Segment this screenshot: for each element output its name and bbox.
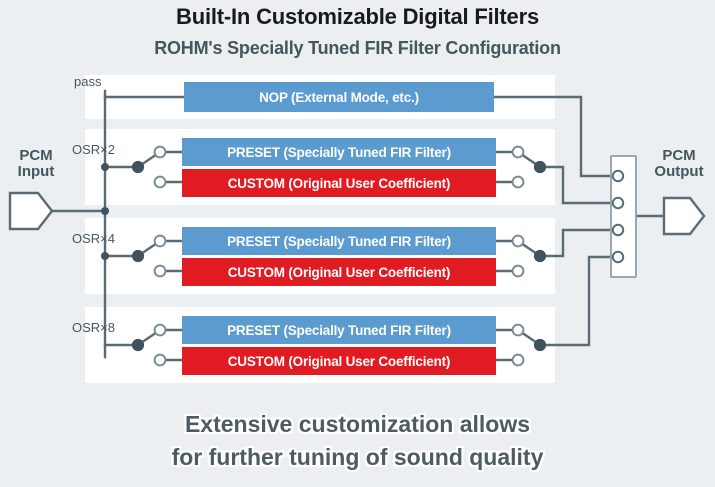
wire-pass-to-mux xyxy=(494,97,611,176)
mux-terminal-osr4[interactable] xyxy=(613,225,623,235)
block-osr2-custom[interactable]: CUSTOM (Original User Coefficient) xyxy=(182,169,496,197)
wire-osr4-to-mux xyxy=(540,230,611,256)
block-nop[interactable]: NOP (External Mode, etc.) xyxy=(184,82,494,112)
pcm-output-connector-icon xyxy=(664,198,704,234)
switch-pivot-osr4-in[interactable] xyxy=(132,250,143,261)
pcm-output-label: PCM Output xyxy=(648,148,710,180)
pcm-output-label-line2: Output xyxy=(654,163,703,180)
switch-contact-osr2-preset-out[interactable] xyxy=(513,147,524,158)
switch-contact-osr4-preset-out[interactable] xyxy=(513,236,524,247)
branch-label-osr4: OSR×4 xyxy=(72,231,115,246)
switch-contact-osr2-custom-in[interactable] xyxy=(155,177,166,188)
mux-terminal-pass[interactable] xyxy=(613,171,623,181)
switch-contact-osr4-custom-in[interactable] xyxy=(155,266,166,277)
junction-osr4 xyxy=(101,252,109,260)
switch-contact-osr2-custom-out[interactable] xyxy=(513,177,524,188)
pcm-input-label: PCM Input xyxy=(8,148,64,180)
mux-terminal-osr8[interactable] xyxy=(613,252,623,262)
junction-input xyxy=(101,207,109,215)
switch-contact-osr8-preset-out[interactable] xyxy=(513,325,524,336)
switch-contact-osr2-preset-in[interactable] xyxy=(155,147,166,158)
junction-osr2 xyxy=(101,163,109,171)
switch-contact-osr4-preset-in[interactable] xyxy=(155,236,166,247)
wire-osr2-to-mux xyxy=(540,167,611,203)
switch-pivot-osr2-out[interactable] xyxy=(534,161,545,172)
branch-label-osr8: OSR×8 xyxy=(72,320,115,335)
block-osr2-preset[interactable]: PRESET (Specially Tuned FIR Filter) xyxy=(182,138,496,166)
pcm-input-connector-icon xyxy=(10,193,52,229)
block-osr8-custom[interactable]: CUSTOM (Original User Coefficient) xyxy=(182,347,496,375)
mux-terminal-osr2[interactable] xyxy=(613,198,623,208)
switch-pivot-osr8-in[interactable] xyxy=(132,339,143,350)
switch-contact-osr8-custom-out[interactable] xyxy=(513,355,524,366)
caption-line-1: Extensive customization allows xyxy=(0,408,715,441)
pcm-input-label-line1: PCM xyxy=(19,147,52,164)
switch-contact-osr8-custom-in[interactable] xyxy=(155,355,166,366)
bottom-caption: Extensive customization allows for furth… xyxy=(0,408,715,474)
switch-contact-osr4-custom-out[interactable] xyxy=(513,266,524,277)
block-osr8-preset[interactable]: PRESET (Specially Tuned FIR Filter) xyxy=(182,316,496,344)
diagram-root: Built-In Customizable Digital Filters RO… xyxy=(0,0,715,487)
block-osr4-preset[interactable]: PRESET (Specially Tuned FIR Filter) xyxy=(182,227,496,255)
branch-label-pass: pass xyxy=(74,74,101,89)
switch-pivot-osr2-in[interactable] xyxy=(132,161,143,172)
switch-pivot-osr8-out[interactable] xyxy=(534,339,545,350)
pcm-output-label-line1: PCM xyxy=(662,147,695,164)
pcm-input-label-line2: Input xyxy=(18,163,55,180)
switch-pivot-osr4-out[interactable] xyxy=(534,250,545,261)
wire-osr8-to-mux xyxy=(540,257,611,345)
block-osr4-custom[interactable]: CUSTOM (Original User Coefficient) xyxy=(182,258,496,286)
caption-line-2: for further tuning of sound quality xyxy=(0,441,715,474)
branch-label-osr2: OSR×2 xyxy=(72,142,115,157)
switch-contact-osr8-preset-in[interactable] xyxy=(155,325,166,336)
